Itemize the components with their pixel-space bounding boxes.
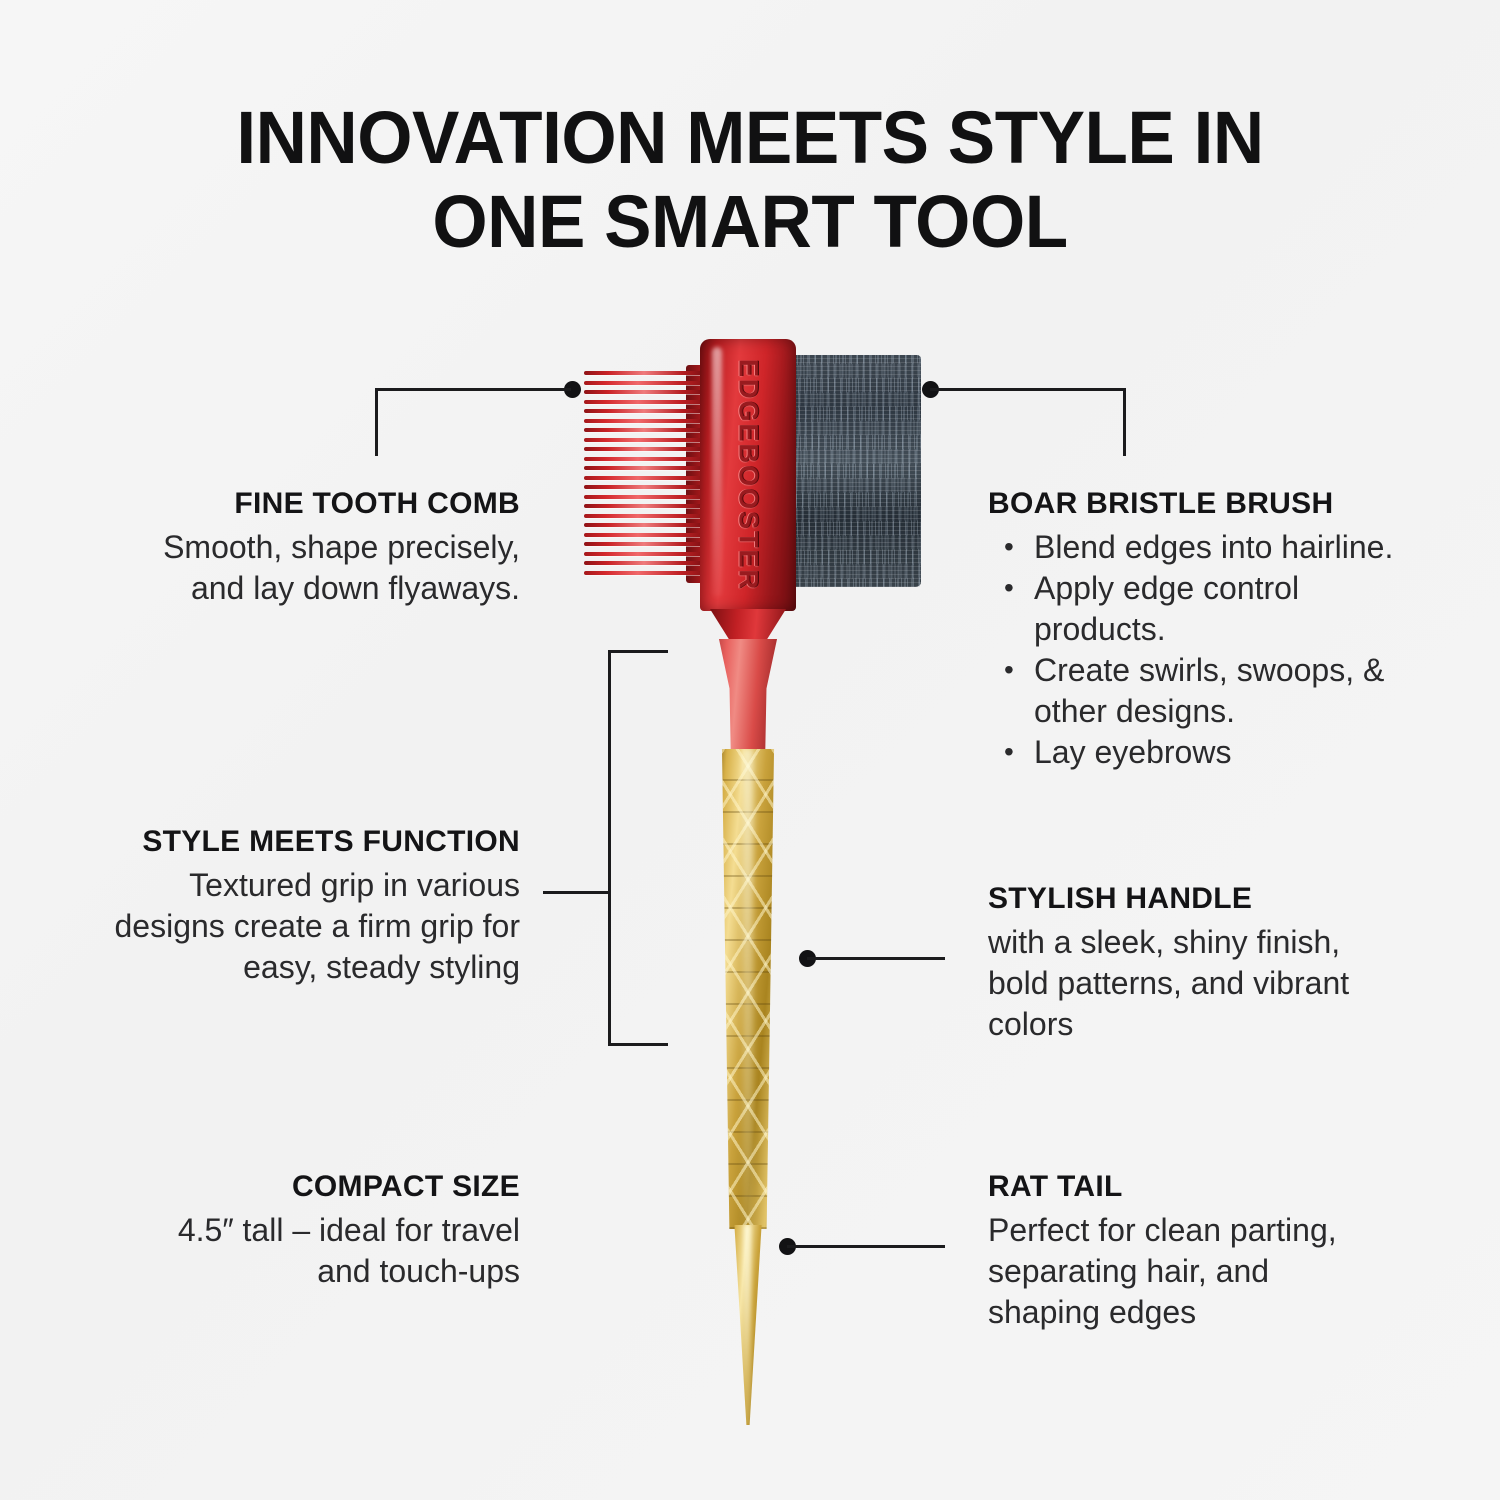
callout-boar-bristle-brush: BOAR BRISTLE BRUSH Blend edges into hair… <box>988 485 1418 773</box>
list-item: Apply edge control products. <box>988 568 1418 650</box>
page-title: INNOVATION MEETS STYLE IN ONE SMART TOOL <box>30 96 1470 264</box>
callout-fine-tooth-comb: FINE TOOTH COMB Smooth, shape precisely,… <box>120 485 520 609</box>
callout-compact-size: COMPACT SIZE 4.5″ tall – ideal for trave… <box>120 1168 520 1292</box>
brand-logo: EDGEBOOSTER <box>700 339 796 611</box>
leader-line-fine-tooth-comb-horizontal <box>375 388 571 391</box>
bracket-style-meets-function-stem <box>543 891 611 894</box>
callout-body-fine-tooth-comb: Smooth, shape precisely, and lay down fl… <box>120 527 520 609</box>
callout-heading-boar-bristle-brush: BOAR BRISTLE BRUSH <box>988 485 1418 523</box>
callout-heading-fine-tooth-comb: FINE TOOTH COMB <box>120 485 520 523</box>
callout-heading-style-meets-function: STYLE MEETS FUNCTION <box>80 823 520 861</box>
callout-body-style-meets-function: Textured grip in various designs create … <box>80 865 520 988</box>
rat-tail-tip <box>728 1225 768 1425</box>
product-image: EDGEBOOSTER <box>560 325 960 1435</box>
product-head-plate: EDGEBOOSTER <box>700 339 796 611</box>
list-item: Create swirls, swoops, & other designs. <box>988 650 1418 732</box>
bracket-style-meets-function-bottom <box>608 1043 668 1046</box>
leader-line-fine-tooth-comb-vertical <box>375 388 378 456</box>
leader-line-stylish-handle <box>807 957 945 960</box>
callout-body-stylish-handle: with a sleek, shiny finish, bold pattern… <box>988 922 1388 1045</box>
head-taper <box>710 609 786 643</box>
brand-label: EDGEBOOSTER <box>733 359 764 591</box>
leader-line-boar-bristle-vertical <box>1123 388 1126 456</box>
infographic-canvas: INNOVATION MEETS STYLE IN ONE SMART TOOL… <box>0 0 1500 1500</box>
textured-gold-handle <box>717 749 779 1229</box>
title-line-2: ONE SMART TOOL <box>30 180 1470 264</box>
callout-heading-compact-size: COMPACT SIZE <box>120 1168 520 1206</box>
callout-heading-stylish-handle: STYLISH HANDLE <box>988 880 1388 918</box>
leader-line-boar-bristle-horizontal <box>930 388 1126 391</box>
bracket-style-meets-function-vertical <box>608 650 611 1046</box>
list-item: Blend edges into hairline. <box>988 527 1418 568</box>
callout-rat-tail: RAT TAIL Perfect for clean parting, sepa… <box>988 1168 1388 1333</box>
title-line-1: INNOVATION MEETS STYLE IN <box>236 96 1263 179</box>
boar-bristle-bullet-list: Blend edges into hairline. Apply edge co… <box>988 527 1418 773</box>
callout-body-compact-size: 4.5″ tall – ideal for travel and touch-u… <box>120 1210 520 1292</box>
bracket-style-meets-function-top <box>608 650 668 653</box>
fine-tooth-comb-teeth <box>584 371 704 575</box>
list-item: Lay eyebrows <box>988 732 1418 773</box>
callout-body-rat-tail: Perfect for clean parting, separating ha… <box>988 1210 1388 1333</box>
leader-line-rat-tail <box>787 1245 945 1248</box>
callout-heading-rat-tail: RAT TAIL <box>988 1168 1388 1206</box>
handle-neck <box>715 639 781 757</box>
callout-style-meets-function: STYLE MEETS FUNCTION Textured grip in va… <box>80 823 520 988</box>
callout-stylish-handle: STYLISH HANDLE with a sleek, shiny finis… <box>988 880 1388 1045</box>
boar-bristle-brush-head <box>793 355 921 587</box>
